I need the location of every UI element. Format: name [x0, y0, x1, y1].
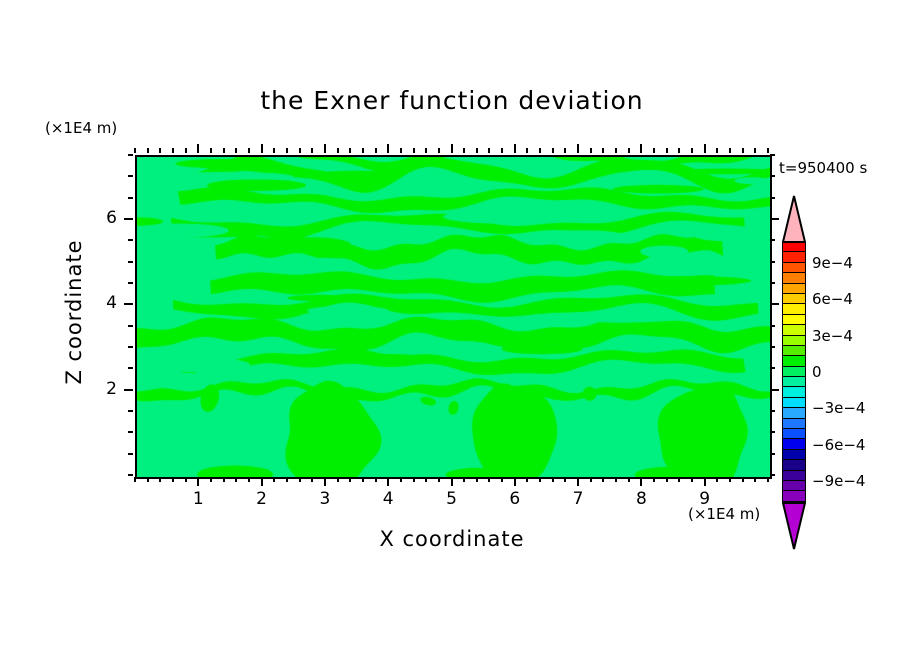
x-tick-minor: [501, 477, 503, 482]
x-tick-minor-top: [286, 148, 288, 153]
x-tick-minor-top: [742, 148, 744, 153]
x-tick-major: [704, 477, 706, 486]
colorbar-tick-label: 3e−4: [812, 327, 853, 345]
x-tick-minor-top: [235, 148, 237, 153]
colorbar-band: [782, 439, 806, 449]
x-tick-major: [514, 477, 516, 486]
colorbar-band: [782, 408, 806, 418]
x-tick-minor-top: [602, 148, 604, 153]
x-tick-minor-top: [691, 148, 693, 153]
y-tick-minor: [128, 261, 133, 263]
x-tick-minor-top: [400, 148, 402, 153]
y-tick-major: [124, 218, 133, 220]
y-tick-label: 4: [87, 293, 117, 313]
x-tick-minor-top: [653, 148, 655, 153]
x-tick-minor: [223, 477, 225, 482]
colorbar-band: [782, 429, 806, 439]
x-tick-minor: [628, 477, 630, 482]
x-tick-minor: [425, 477, 427, 482]
x-tick-minor: [742, 477, 744, 482]
x-tick-minor: [564, 477, 566, 482]
x-tick-minor-top: [223, 148, 225, 153]
x-tick-minor: [526, 477, 528, 482]
colorbar-band: [782, 252, 806, 262]
colorbar-band: [782, 367, 806, 377]
x-tick-minor: [767, 477, 769, 482]
x-tick-minor: [476, 477, 478, 482]
colorbar-tick-label: 0: [812, 363, 822, 381]
y-tick-minor: [128, 367, 133, 369]
colorbar-bands: [782, 242, 806, 502]
colorbar-band: [782, 304, 806, 314]
x-tick-minor-top: [476, 148, 478, 153]
y-tick-label: 6: [87, 208, 117, 228]
colorbar: 9e−46e−43e−40−3e−4−6e−4−9e−4: [770, 195, 900, 520]
x-tick-minor: [602, 477, 604, 482]
x-tick-minor: [299, 477, 301, 482]
x-tick-label: 8: [626, 489, 656, 509]
x-tick-minor: [678, 477, 680, 482]
colorbar-band: [782, 346, 806, 356]
y-tick-label: 2: [87, 379, 117, 399]
x-tick-minor-top: [729, 148, 731, 153]
colorbar-band: [782, 460, 806, 470]
x-tick-label: 2: [247, 489, 277, 509]
x-tick-minor: [438, 477, 440, 482]
x-tick-minor: [488, 477, 490, 482]
x-tick-minor-top: [666, 148, 668, 153]
y-tick-major: [124, 303, 133, 305]
x-tick-major: [261, 477, 263, 486]
y-tick-minor: [128, 410, 133, 412]
x-tick-minor-top: [134, 148, 136, 153]
y-tick-minor: [128, 325, 133, 327]
x-tick-label: 5: [437, 489, 467, 509]
y-tick-major: [124, 389, 133, 391]
colorbar-band: [782, 242, 806, 252]
x-tick-minor-top: [754, 148, 756, 153]
x-tick-major-top: [387, 144, 389, 153]
x-tick-minor-top: [349, 148, 351, 153]
colorbar-tick-label: −9e−4: [812, 472, 865, 490]
colorbar-band: [782, 356, 806, 366]
x-tick-label: 4: [373, 489, 403, 509]
x-tick-minor: [729, 477, 731, 482]
x-tick-minor-top: [413, 148, 415, 153]
x-tick-minor-top: [716, 148, 718, 153]
x-tick-minor-top: [172, 148, 174, 153]
y-tick-minor: [128, 154, 133, 156]
x-tick-minor-top: [362, 148, 364, 153]
y-tick-minor: [128, 453, 133, 455]
x-tick-minor-top: [488, 148, 490, 153]
x-tick-minor-top: [299, 148, 301, 153]
x-tick-minor-top: [375, 148, 377, 153]
x-tick-major-top: [704, 144, 706, 153]
x-tick-label: 9: [690, 489, 720, 509]
x-tick-minor: [286, 477, 288, 482]
x-tick-minor-top: [337, 148, 339, 153]
colorbar-band: [782, 491, 806, 501]
x-tick-major-top: [514, 144, 516, 153]
y-tick-minor: [128, 431, 133, 433]
colorbar-band: [782, 387, 806, 397]
y-tick-minor: [128, 175, 133, 177]
x-tick-minor-top: [628, 148, 630, 153]
x-tick-major-top: [261, 144, 263, 153]
x-tick-major-top: [577, 144, 579, 153]
x-tick-minor: [653, 477, 655, 482]
x-tick-minor: [413, 477, 415, 482]
colorbar-band: [782, 294, 806, 304]
x-tick-minor-top: [273, 148, 275, 153]
x-tick-minor-top: [564, 148, 566, 153]
x-tick-minor: [134, 477, 136, 482]
colorbar-tick-label: −3e−4: [812, 399, 865, 417]
x-tick-minor: [615, 477, 617, 482]
colorbar-tick-label: 6e−4: [812, 290, 853, 308]
x-tick-minor-top: [539, 148, 541, 153]
x-tick-minor: [147, 477, 149, 482]
x-tick-minor: [539, 477, 541, 482]
x-tick-minor: [210, 477, 212, 482]
x-tick-label: 7: [563, 489, 593, 509]
x-tick-minor-top: [425, 148, 427, 153]
x-tick-minor-top: [767, 148, 769, 153]
x-tick-minor: [185, 477, 187, 482]
colorbar-band: [782, 450, 806, 460]
y-tick-minor-right: [770, 154, 775, 156]
x-tick-minor-top: [248, 148, 250, 153]
x-tick-minor: [235, 477, 237, 482]
x-tick-minor: [362, 477, 364, 482]
x-tick-minor: [691, 477, 693, 482]
x-tick-minor-top: [526, 148, 528, 153]
y-tick-minor-right: [770, 175, 775, 177]
x-tick-major: [577, 477, 579, 486]
colorbar-band: [782, 315, 806, 325]
x-tick-major-top: [451, 144, 453, 153]
x-tick-minor-top: [438, 148, 440, 153]
x-tick-label: 6: [500, 489, 530, 509]
colorbar-band: [782, 419, 806, 429]
y-tick-minor: [128, 474, 133, 476]
x-tick-minor: [337, 477, 339, 482]
colorbar-band: [782, 273, 806, 283]
x-tick-minor-top: [311, 148, 313, 153]
y-tick-minor: [128, 282, 133, 284]
x-tick-minor: [248, 477, 250, 482]
y-tick-minor: [128, 346, 133, 348]
x-tick-minor: [311, 477, 313, 482]
colorbar-under-arrow: [782, 502, 806, 550]
x-tick-minor: [463, 477, 465, 482]
x-tick-minor-top: [590, 148, 592, 153]
x-tick-minor: [590, 477, 592, 482]
colorbar-tick-label: −6e−4: [812, 436, 865, 454]
colorbar-band: [782, 377, 806, 387]
x-tick-major: [640, 477, 642, 486]
x-tick-minor-top: [159, 148, 161, 153]
colorbar-band: [782, 471, 806, 481]
x-tick-minor-top: [552, 148, 554, 153]
axis-tick-layer: 123456789246: [0, 0, 904, 654]
x-tick-major-top: [197, 144, 199, 153]
x-tick-major: [451, 477, 453, 486]
colorbar-band: [782, 263, 806, 273]
x-tick-minor: [716, 477, 718, 482]
x-tick-minor-top: [210, 148, 212, 153]
x-tick-minor: [400, 477, 402, 482]
x-tick-major-top: [640, 144, 642, 153]
x-tick-minor-top: [501, 148, 503, 153]
x-tick-major: [387, 477, 389, 486]
x-tick-minor: [666, 477, 668, 482]
x-tick-label: 1: [183, 489, 213, 509]
x-tick-minor: [172, 477, 174, 482]
x-tick-minor: [552, 477, 554, 482]
x-tick-minor-top: [615, 148, 617, 153]
x-tick-minor: [159, 477, 161, 482]
x-tick-major: [324, 477, 326, 486]
colorbar-band: [782, 481, 806, 491]
x-tick-minor-top: [678, 148, 680, 153]
y-tick-minor: [128, 239, 133, 241]
x-tick-major: [197, 477, 199, 486]
x-tick-minor-top: [147, 148, 149, 153]
x-tick-minor: [754, 477, 756, 482]
x-tick-label: 3: [310, 489, 340, 509]
colorbar-band: [782, 284, 806, 294]
x-tick-minor: [349, 477, 351, 482]
colorbar-band: [782, 325, 806, 335]
colorbar-band: [782, 336, 806, 346]
x-tick-minor: [375, 477, 377, 482]
x-tick-minor-top: [463, 148, 465, 153]
colorbar-band: [782, 398, 806, 408]
x-tick-minor-top: [185, 148, 187, 153]
colorbar-tick-label: 9e−4: [812, 254, 853, 272]
y-tick-minor: [128, 197, 133, 199]
colorbar-over-arrow: [782, 195, 806, 243]
x-tick-minor: [273, 477, 275, 482]
x-tick-major-top: [324, 144, 326, 153]
